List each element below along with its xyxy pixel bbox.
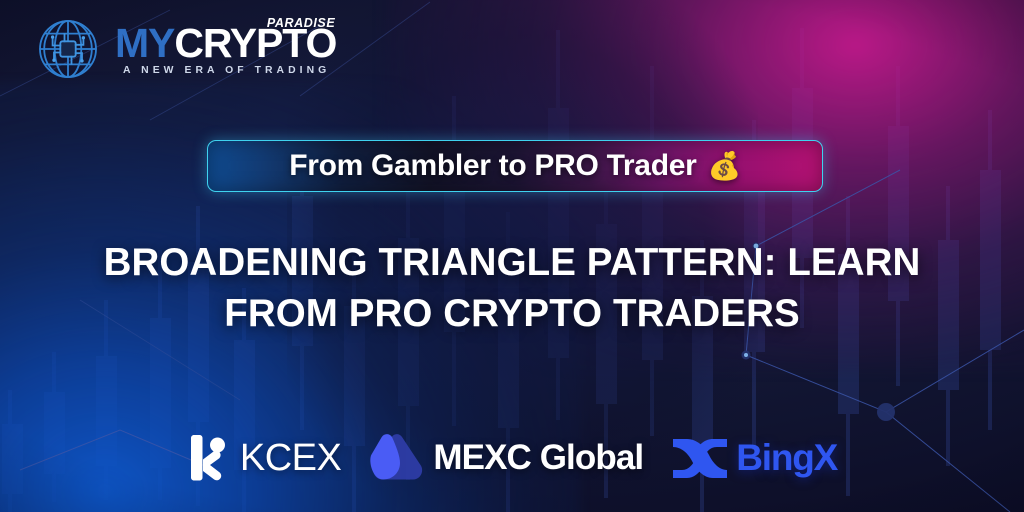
mexc-triangle-icon <box>369 432 427 484</box>
brand-tagline: A NEW ERA OF TRADING <box>115 65 336 76</box>
partner-logo-mexc[interactable]: MEXC Global <box>369 432 643 484</box>
partner-logo-row: KCEX MEXC Global BingX <box>0 425 1024 491</box>
badge-label: From Gambler to PRO Trader <box>289 149 696 183</box>
promo-banner: MY CRYPTO PARADISE A NEW ERA OF TRADING … <box>0 0 1024 512</box>
kcex-k-mark-icon <box>187 435 231 481</box>
partner-logo-kcex[interactable]: KCEX <box>187 435 341 481</box>
partner-name-mexc: MEXC Global <box>433 438 643 478</box>
bingx-x-mark-icon <box>671 435 729 481</box>
money-bag-emoji: 💰 <box>707 153 740 180</box>
partner-name-bingx: BingX <box>736 437 837 479</box>
partner-logo-bingx[interactable]: BingX <box>671 435 837 481</box>
brand-word-my: MY <box>115 24 174 63</box>
page-title-line-2: FROM PRO CRYPTO TRADERS <box>60 288 964 339</box>
badge-text-wrap: From Gambler to PRO Trader 💰 <box>289 149 741 183</box>
brand-logo[interactable]: MY CRYPTO PARADISE A NEW ERA OF TRADING <box>33 14 336 84</box>
globe-circuit-icon <box>33 14 103 84</box>
tagline-badge[interactable]: From Gambler to PRO Trader 💰 <box>207 140 823 192</box>
page-title: BROADENING TRIANGLE PATTERN: LEARN FROM … <box>0 237 1024 339</box>
page-title-line-1: BROADENING TRIANGLE PATTERN: LEARN <box>60 237 964 288</box>
brand-word-paradise: PARADISE <box>267 17 335 29</box>
partner-name-kcex: KCEX <box>240 437 341 480</box>
brand-wordmark: MY CRYPTO PARADISE A NEW ERA OF TRADING <box>115 22 336 76</box>
